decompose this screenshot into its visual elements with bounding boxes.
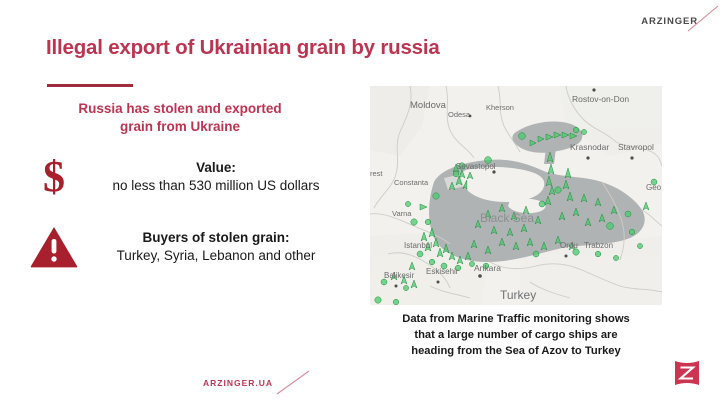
page-title: Illegal export of Ukrainian grain by rus… — [46, 36, 440, 60]
map-label-balikesir: Balikesir — [384, 271, 415, 280]
fact-row-buyers: Buyers of stolen grain: Turkey, Syria, L… — [0, 226, 360, 268]
subtitle-line-2: grain from Ukraine — [30, 118, 330, 136]
brand-logo-top: ARZINGER — [641, 16, 698, 27]
map-label-ankara: Ankara — [474, 263, 501, 273]
warning-triangle-icon — [26, 226, 82, 268]
fact-label-value: Value: — [82, 159, 350, 177]
map-caption-line-2: that a large number of cargo ships are — [368, 328, 664, 344]
arzinger-logo-mark — [672, 358, 702, 388]
map-label-varna: Varna — [392, 209, 412, 218]
map-label-odesa: Odesa — [448, 110, 471, 119]
map-label-black-sea: Black Sea — [480, 211, 534, 225]
map-label-ordu: Ordu — [560, 241, 578, 250]
map-label-sevastopol: Sevastopol — [456, 162, 496, 171]
map-label-constanta: Constanta — [394, 178, 429, 187]
fact-value-buyers: Turkey, Syria, Lebanon and other — [82, 247, 350, 265]
map-caption-line-3: heading from the Sea of Azov to Turkey — [368, 344, 664, 360]
fact-row-value: $ Value: no less than 530 million US dol… — [0, 158, 360, 195]
map-label-georgia: Geo — [646, 183, 662, 192]
map-label-trabzon: Trabzon — [584, 241, 613, 250]
map-label-stavropol: Stavropol — [618, 142, 654, 152]
fact-label-buyers: Buyers of stolen grain: — [82, 229, 350, 247]
map-caption: Data from Marine Traffic monitoring show… — [368, 312, 664, 360]
warning-triangle-shape — [30, 226, 78, 268]
map-label-istanbul: Istanbul — [404, 241, 432, 250]
map-canvas[interactable]: Moldova Odesa Kherson Rostov-on-Don Kras… — [370, 86, 662, 305]
fact-value-value: no less than 530 million US dollars — [82, 177, 350, 195]
map-caption-line-1: Data from Marine Traffic monitoring show… — [368, 312, 664, 328]
map-label-krasnodar: Krasnodar — [570, 142, 609, 152]
subtitle: Russia has stolen and exported grain fro… — [0, 100, 360, 136]
dollar-sign-icon: $ — [26, 158, 82, 195]
brand-slash-decoration — [686, 10, 720, 32]
map-label-eskisehir: Eskisehir — [426, 267, 459, 276]
map-label-turkey: Turkey — [500, 288, 536, 302]
footer-website-url[interactable]: ARZINGER.UA — [203, 378, 273, 388]
subtitle-line-1: Russia has stolen and exported — [30, 100, 330, 118]
fact-text-value: Value: no less than 530 million US dolla… — [82, 159, 360, 195]
map-label-kherson: Kherson — [486, 103, 514, 112]
left-content-column: Russia has stolen and exported grain fro… — [0, 100, 360, 268]
fact-text-buyers: Buyers of stolen grain: Turkey, Syria, L… — [82, 229, 360, 265]
dollar-sign-glyph: $ — [43, 158, 65, 195]
marine-traffic-map[interactable]: Moldova Odesa Kherson Rostov-on-Don Kras… — [370, 86, 662, 305]
map-label-moldova: Moldova — [410, 100, 447, 111]
map-label-rostov: Rostov-on-Don — [572, 94, 629, 104]
footer-slash-decoration — [275, 370, 311, 396]
title-divider — [47, 84, 133, 87]
map-label-bucharest: rest — [370, 169, 383, 178]
